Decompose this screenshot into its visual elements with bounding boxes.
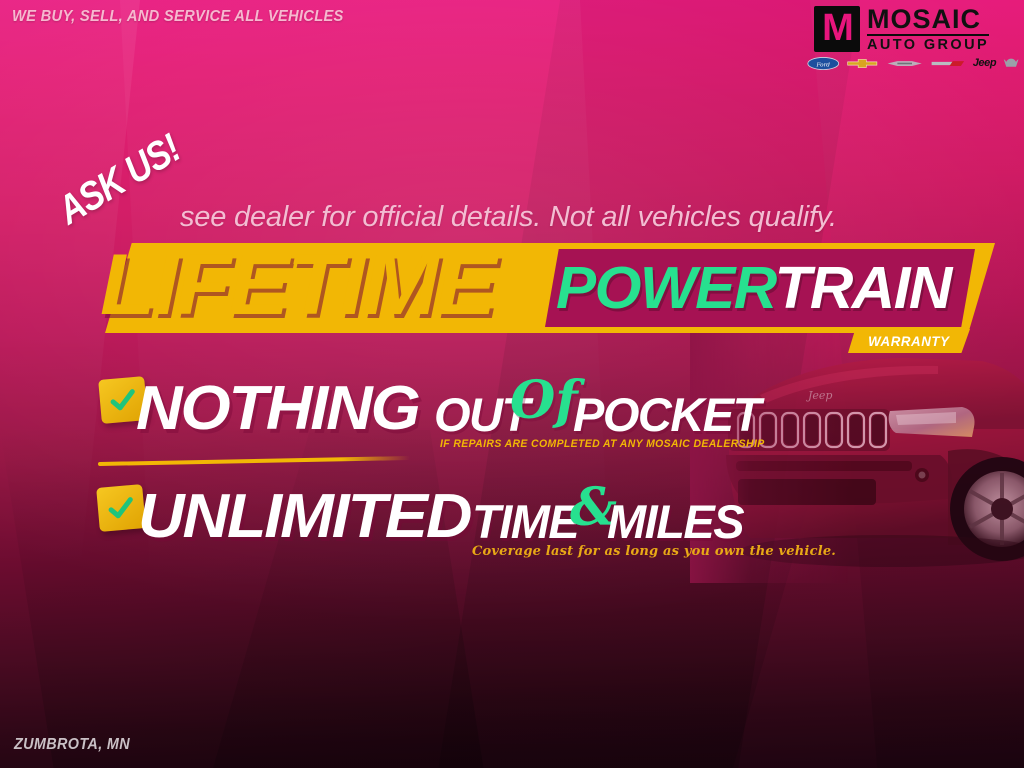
logo-divider bbox=[867, 34, 989, 36]
chrysler-logo-icon bbox=[886, 57, 923, 70]
headline-lifetime: LIFETIME bbox=[100, 240, 494, 330]
benefit-unlimited-time: TIME bbox=[472, 498, 578, 545]
benefit-row-unlimited: UNLIMITED TIME & MILES Coverage last for… bbox=[0, 486, 1024, 566]
benefit-unlimited-fine-print: Coverage last for as long as you own the… bbox=[472, 544, 836, 559]
logo-name-main: MOSAIC bbox=[867, 6, 989, 33]
headline-powertrain: POWERTRAIN bbox=[556, 249, 951, 327]
benefit-unlimited-miles: MILES bbox=[607, 498, 743, 545]
logo-mark-letter: M bbox=[822, 9, 852, 47]
chevrolet-logo-icon bbox=[846, 57, 879, 70]
ram-logo-icon bbox=[1003, 57, 1019, 70]
mosaic-auto-group-logo[interactable]: M MOSAIC AUTO GROUP Ford Jeep bbox=[814, 6, 1010, 74]
warranty-tab: WARRANTY bbox=[848, 329, 970, 353]
jeep-logo-icon: Jeep bbox=[973, 57, 996, 70]
headline-train: TRAIN bbox=[775, 255, 951, 321]
headline-band: LIFETIME POWERTRAIN WARRANTY bbox=[0, 243, 1024, 343]
ford-logo-icon: Ford bbox=[807, 57, 840, 70]
benefit-nothing-pocket: POCKET bbox=[573, 391, 760, 438]
benefit-row-nothing: NOTHING OUT Of POCKET IF REPAIRS ARE COM… bbox=[0, 378, 1024, 458]
dodge-logo-icon bbox=[930, 57, 966, 70]
header-tagline: WE BUY, SELL, AND SERVICE ALL VEHICLES bbox=[12, 8, 344, 26]
logo-row: M MOSAIC AUTO GROUP bbox=[814, 6, 1010, 53]
warranty-tab-label: WARRANTY bbox=[868, 333, 949, 349]
disclaimer-text: see dealer for official details. Not all… bbox=[180, 201, 837, 234]
brand-logo-strip: Ford Jeep bbox=[814, 57, 1010, 70]
svg-text:Ford: Ford bbox=[815, 62, 830, 68]
advertisement-canvas: Jeep WE BUY, SELL, AND SERVICE ALL VEHIC… bbox=[0, 0, 1024, 768]
mosaic-m-mark-icon: M bbox=[814, 6, 860, 52]
benefit-nothing-of: Of bbox=[510, 375, 578, 427]
benefit-nothing-fine-print: IF REPAIRS ARE COMPLETED AT ANY MOSAIC D… bbox=[440, 438, 765, 450]
benefit-nothing-big: NOTHING bbox=[136, 378, 419, 440]
footer-location: ZUMBROTA, MN bbox=[14, 736, 130, 754]
logo-name-sub: AUTO GROUP bbox=[867, 38, 989, 53]
headline-power: POWER bbox=[556, 255, 775, 321]
benefit-unlimited-big: UNLIMITED bbox=[138, 486, 470, 548]
logo-wordmark: MOSAIC AUTO GROUP bbox=[867, 6, 989, 53]
